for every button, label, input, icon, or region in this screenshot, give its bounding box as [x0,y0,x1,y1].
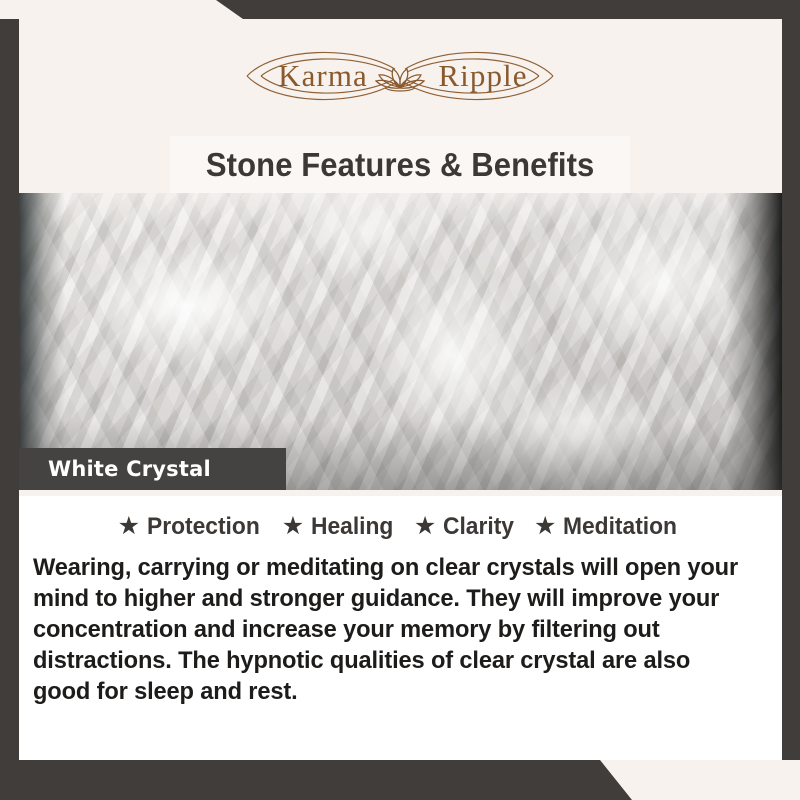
frame-bottom-bar [0,760,800,800]
frame-left-bar [0,19,19,781]
benefit-label: Meditation [563,513,677,541]
karma-ripple-logo-mark: Karma Ripple [235,39,565,113]
benefit-label: Clarity [443,513,514,541]
page-title: Stone Features & Benefits [206,146,594,184]
brand-word-right: Ripple [438,58,527,93]
benefit-label: Healing [311,513,393,541]
stone-name-label: White Crystal [48,457,211,481]
stone-name-banner: White Crystal [19,448,286,490]
benefit-item-healing: ★ Healing [274,513,406,541]
infographic-card: Karma Ripple Stone Features & Benefits W… [0,0,800,800]
lotus-icon [376,69,424,91]
benefit-label: Protection [147,513,260,541]
star-icon: ★ [414,514,436,539]
title-card: Stone Features & Benefits [170,136,631,193]
brand-word-left: Karma [278,58,368,93]
description-text: Wearing, carrying or meditating on clear… [33,552,742,707]
benefit-item-clarity: ★ Clarity [406,513,526,541]
header: Karma Ripple [0,19,800,131]
photo-top-shade [19,193,782,227]
frame-top-bar [0,0,800,19]
frame-right-bar [782,19,800,760]
star-icon: ★ [534,514,556,539]
panel-top-divider [19,490,782,496]
brand-logo[interactable]: Karma Ripple [235,39,565,113]
star-icon: ★ [282,514,304,539]
benefit-item-meditation: ★ Meditation [526,513,691,541]
benefits-row: ★ Protection ★ Healing ★ Clarity ★ Medit… [19,513,782,541]
content-panel: ★ Protection ★ Healing ★ Clarity ★ Medit… [19,490,782,760]
benefit-item-protection: ★ Protection [110,513,274,541]
star-icon: ★ [118,514,140,539]
crystal-photo [19,193,782,490]
